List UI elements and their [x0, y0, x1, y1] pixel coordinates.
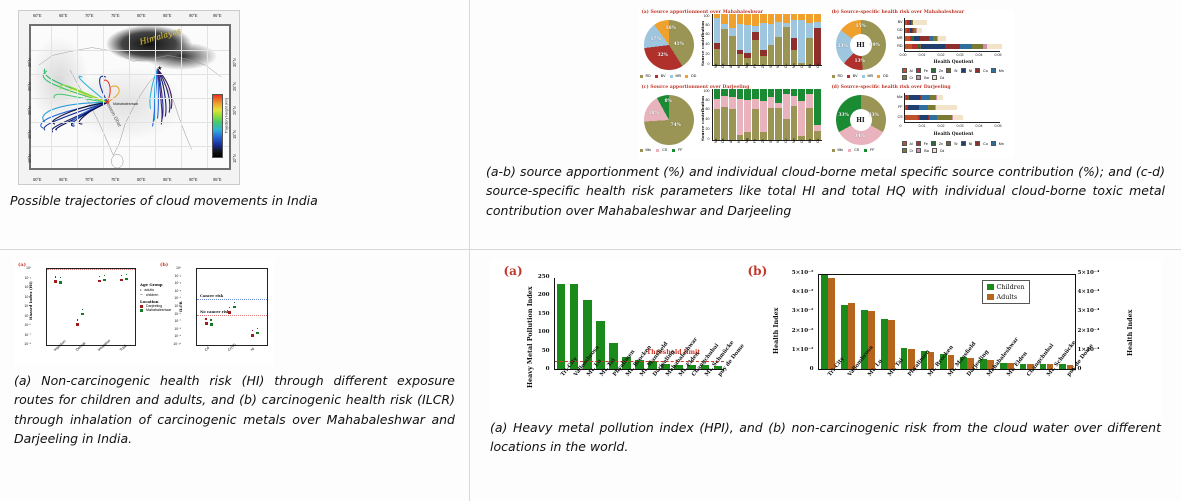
health-index-ytick-right: 5×10⁻⁴ [1078, 270, 1102, 276]
bar-segment [798, 20, 805, 63]
stacked-bar-xlabel: Mn [792, 63, 796, 68]
stacked-bar-xlabel: Fe [753, 64, 757, 68]
map-xtick-bottom: 60°E [33, 177, 41, 182]
stacked-bar-xlabel: Mn [792, 138, 796, 143]
stack-a-yticks: 0 20 40 60 80 100 [704, 18, 710, 66]
hpi-figure: (a) Heavy Metal Pollution Index 25020015… [490, 260, 1162, 420]
panel-d-title: (d) Source-specific health risk over Dar… [832, 85, 951, 90]
scatter-point-whisker [121, 275, 123, 276]
hbar-segment [938, 36, 946, 41]
panel-a-legend: RD BV MR DD [640, 74, 697, 78]
stacked-bar-column [721, 14, 728, 65]
legend-item: Mix [640, 148, 652, 152]
hbar-b-xlabel: Health Quotient [934, 60, 974, 65]
scatter-ytick: 10⁻¹ [175, 274, 182, 278]
stacked-bar-xlabel: Mg [745, 63, 749, 68]
hbar-segment [936, 105, 957, 110]
stacked-bar-column [714, 89, 721, 140]
hbar-segment [960, 44, 971, 49]
health-index-bar [868, 311, 875, 369]
health-index-ytick-right: 4×10⁻⁴ [1078, 289, 1102, 295]
scatter-ytick: 10⁻³ [25, 295, 32, 299]
bar-segment [721, 29, 728, 65]
metal-legend-item: Ba [916, 148, 928, 153]
bar-segment [783, 119, 790, 140]
stacked-bar-column [737, 89, 744, 140]
bar-segment [806, 38, 813, 65]
scatter-point-whisker [257, 328, 259, 329]
bar-segment [729, 14, 736, 28]
scatter-ytick: 10⁰ [176, 266, 182, 270]
map-xtick: 90°E [189, 13, 197, 18]
bar-segment [729, 97, 736, 110]
hbar-segment [917, 28, 923, 33]
bar-segment [814, 22, 821, 29]
stacked-bar-xlabel: Ni [776, 65, 780, 68]
stacked-bar-xlabel: Ca [721, 139, 725, 143]
hbar-xtick: 0.05 [995, 53, 1002, 57]
bar-segment [806, 23, 813, 38]
map-ytick-right: 10°N [232, 154, 237, 163]
stacked-bar-xlabel: Al [729, 65, 733, 68]
map-caption: Possible trajectories of cloud movements… [10, 191, 459, 210]
metal-legend-item: Al [902, 141, 913, 146]
scatter-ytick: 10⁻⁶ [24, 323, 32, 327]
stacked-bar-xlabel: Na [714, 64, 718, 68]
map-ytick: 25°N [27, 82, 32, 91]
hbar-mahabaleshwar: BVDDMRRD [904, 18, 1000, 52]
panel-b-yticks: 10⁰10⁻¹10⁻²10⁻³10⁻⁴10⁻⁵10⁻⁶10⁻⁷10⁻⁸10⁻⁹1… [182, 268, 194, 346]
map-plot-area: Himalayas Western Ghat ★ Mahabaleshwar ★… [29, 24, 231, 170]
bar-segment [760, 14, 767, 23]
stacked-bar-column [729, 14, 736, 65]
map-ytick-right: 20°N [232, 106, 237, 115]
hbar-xtick: 0.02 [938, 124, 945, 128]
scatter-ytick: 10⁻² [25, 285, 32, 289]
hbar-xtick: 0.03 [957, 53, 964, 57]
bar-segment [814, 14, 821, 22]
stacked-bar-column [798, 14, 805, 65]
scatter-point [120, 279, 123, 281]
bar-segment [791, 96, 798, 106]
stacked-bar-column [744, 89, 751, 140]
stacked-bar-xlabel: Fe [753, 139, 757, 143]
legend-item: BV [655, 74, 666, 78]
scatter-ytick: 10⁻⁸ [24, 342, 32, 346]
metal-legend-item: Al [902, 68, 913, 73]
panel-a-yticks: 10⁰10⁻¹10⁻²10⁻³10⁻⁴10⁻⁵10⁻⁶10⁻⁷10⁻⁸ [32, 268, 44, 346]
bar-segment [729, 109, 736, 140]
scatter-point-whisker [126, 274, 128, 275]
hbar-row: RD [905, 44, 1003, 49]
bar-segment [806, 108, 813, 140]
hpi-a-yticks: 250200150100500 [532, 278, 552, 370]
stacked-bar-column [737, 14, 744, 65]
stacked-bar-xlabel: Zn [761, 139, 765, 143]
health-index-bar [888, 320, 895, 369]
bar-segment [783, 27, 790, 65]
bar-segment [721, 14, 728, 24]
bar-segment [737, 24, 744, 50]
hbar-row-label: MR [897, 36, 905, 40]
bar-segment [768, 89, 775, 97]
panel-title-text: Source-specific health risk over Mahabal… [841, 10, 965, 15]
stacked-bar-column [806, 14, 813, 65]
map-xtick-bottom: 80°E [137, 177, 145, 182]
stacked-bar-column [721, 89, 728, 140]
map-ytick-right: 15°N [232, 130, 237, 139]
pie-slice-label: 18% [649, 111, 659, 116]
bar-segment [721, 89, 728, 96]
hbar-segment [921, 95, 931, 100]
bar-segment [737, 89, 744, 99]
panel-letter: (c) [642, 85, 649, 90]
metal-legend-item: Ni [961, 141, 972, 146]
hbar-row-label: DD [897, 28, 904, 32]
scatter-point-whisker [99, 276, 101, 277]
legend-item: CS [848, 148, 859, 152]
stacked-bar-column [814, 89, 821, 140]
map-ytick: 30°N [27, 58, 32, 67]
bar-segment [775, 108, 782, 140]
hbar-xtick: 0.00 [900, 53, 907, 57]
bar-segment [814, 28, 821, 65]
metal-legend-item: Cr [902, 148, 914, 153]
threshold-line [47, 269, 135, 270]
bar-segment [791, 20, 798, 38]
stacked-bar-column [783, 89, 790, 140]
map-ytick: 20°N [27, 106, 32, 115]
stacked-bar-column [714, 14, 721, 65]
scatter-ytick: 10⁻⁸ [174, 327, 182, 331]
health-index-ytick-left: 2×10⁻² [792, 328, 816, 334]
metal-legend-item: Zn [931, 141, 943, 146]
scatter-plot-ilcr: Cancer riskNo cancer risk [196, 268, 268, 346]
map-xtick-bottom: 95°E [213, 177, 221, 182]
scatter-ytick: 10⁻² [175, 281, 182, 285]
hbar-darjeeling: MixFFCS [904, 93, 1000, 123]
bar-segment [752, 89, 759, 99]
metal-legend-item: Mn [991, 68, 1004, 73]
source-apportionment-figure: (a) Source apportionment over Mahabalesh… [638, 10, 1014, 158]
stacked-bar-xlabel: Sr [769, 65, 773, 68]
map-xtick: 70°E [85, 13, 93, 18]
scatter-ytick: 10⁻⁵ [24, 314, 32, 318]
stacked-bar-column [760, 89, 767, 140]
scatter-point-whisker [60, 277, 62, 278]
hbar-row-label: BV [898, 20, 905, 24]
hpi-panel-b-letter: (b) [748, 264, 768, 278]
metal-legend-item: Sr [946, 68, 958, 73]
scatter-point-whisker [104, 275, 106, 276]
health-index-bar [828, 278, 835, 369]
metal-legend-item: Mn [991, 141, 1004, 146]
stacked-bar-column [791, 14, 798, 65]
legend-item: FF [864, 148, 874, 152]
hbar-xtick: 0.01 [919, 53, 926, 57]
hbar-row: DD [905, 28, 923, 33]
bar-segment [752, 14, 759, 26]
scatter-point [76, 323, 79, 325]
bar-segment [729, 89, 736, 97]
hpi-ytick: 50 [542, 348, 552, 354]
hbar-xtick: 0.04 [976, 53, 983, 57]
scatter-point-whisker [252, 330, 254, 331]
stacked-bar-column [791, 89, 798, 140]
stacked-bar-xlabel: Zn [761, 64, 765, 68]
scatter-ytick: 10⁻⁹ [174, 334, 182, 338]
legend-item: RD [832, 74, 843, 78]
hbar-row-label: FF [898, 105, 904, 109]
bar-segment [760, 23, 767, 50]
scatter-point [210, 323, 213, 325]
panel-b-title: (b) Source-specific health risk over Mah… [832, 10, 965, 15]
stacked-bar-xlabel: Ba [808, 64, 812, 68]
hpi-panel-b-ylabel-left: Health Index [772, 308, 780, 354]
bar-segment [752, 99, 759, 109]
hbar-segment [928, 105, 935, 110]
stacked-bar-column [752, 89, 759, 140]
map-xtick: 80°E [137, 13, 145, 18]
bar-segment [737, 135, 744, 140]
stacked-bar-column [768, 14, 775, 65]
panel-b: (b) Source-specific health risk over Mah… [830, 10, 1014, 84]
scatter-xtick: Ni [250, 347, 255, 352]
hbar-d-metal-legend: AlFeZnSrNiCuMnCrBaCd [902, 141, 1014, 153]
hbar-row-label: Mix [897, 95, 905, 99]
bar-segment [729, 36, 736, 65]
scatter-annotation: No cancer risk [200, 310, 229, 314]
stacked-bar-c-xlabels: NaCaAlKMgFeZnSrNiCuMnCrBaCd [712, 142, 822, 158]
scatter-ytick: 10⁻⁶ [174, 312, 182, 316]
map-ytick: 10°N [27, 154, 32, 163]
stacked-bar-xlabel: Al [729, 140, 733, 143]
scatter-point [251, 334, 254, 336]
bar-segment [798, 89, 805, 101]
hbar-segment [945, 44, 960, 49]
bar-segment [775, 37, 782, 65]
stack-c-yticks: 0 20 40 60 80 100 [704, 93, 710, 141]
metal-legend-item: Cu [975, 141, 988, 146]
scatter-ytick: 10⁻¹⁰ [173, 342, 182, 346]
scatter-point [103, 279, 106, 281]
trajectory-height-colorbar [212, 94, 223, 158]
hbar-xtick: 0.05 [995, 124, 1002, 128]
threshold-line [197, 299, 267, 300]
metal-legend-item: Cd [932, 148, 945, 153]
bar-segment [721, 96, 728, 107]
health-risk-caption: (a) Non-carcinogenic health risk (HI) th… [10, 371, 459, 449]
stacked-bar-mahabaleshwar [712, 14, 822, 66]
hbar-segment [937, 115, 952, 120]
bar-segment [768, 108, 775, 140]
bar-segment [714, 89, 721, 99]
hbar-segment [920, 115, 928, 120]
panel-d: (d) Source-specific health risk over Dar… [830, 85, 1014, 158]
scatter-ytick: 10⁻⁷ [25, 333, 32, 337]
pie-slice-label: 34% [855, 134, 865, 139]
health-risk-figure: (a) Hazard Index (HI) 10⁰10⁻¹10⁻²10⁻³10⁻… [14, 260, 274, 365]
pie-slice-label: 74% [671, 123, 681, 128]
hpi-b-legend: ChildrenAdults [982, 280, 1030, 304]
scatter-ytick: 10⁻⁷ [175, 319, 182, 323]
stacked-bar-column [729, 89, 736, 140]
hbar-segment [921, 44, 946, 49]
map-xtick: 65°E [59, 13, 67, 18]
hbar-segment [909, 95, 920, 100]
scatter-point [98, 280, 101, 282]
donut-chart-darjeeling-hi: HI 33% 34% 33% [836, 95, 886, 145]
hbar-row-label: RD [897, 44, 904, 48]
hbar-d-xticks: 00.010.020.030.040.05 [904, 124, 1000, 132]
legend-item: Adults [987, 293, 1025, 301]
hbar-d-xlabel: Health Quotient [934, 132, 974, 137]
stacked-bar-column [783, 14, 790, 65]
stacked-bar-xlabel: Cr [800, 64, 804, 68]
hpi-caption: (a) Heavy metal pollution index (HPI), a… [480, 418, 1171, 457]
map-xtick-bottom: 85°E [163, 177, 171, 182]
cell-map: Himalayas Western Ghat ★ Mahabaleshwar ★… [0, 0, 470, 250]
hpi-b-yticks-left: 5×10⁻²4×10⁻²3×10⁻²2×10⁻²1×10⁻²0 [780, 274, 816, 370]
map-xtick: 75°E [111, 13, 119, 18]
bar-segment [752, 32, 759, 40]
site-marker-darjeeling: ★ [157, 66, 162, 72]
cell-health-risk: (a) Hazard Index (HI) 10⁰10⁻¹10⁻²10⁻³10⁻… [0, 250, 470, 501]
scatter-point [233, 306, 236, 308]
hbar-row: BV [905, 20, 927, 25]
scatter-ytick: 10⁻⁴ [24, 304, 32, 308]
bar-segment [744, 25, 751, 53]
bar-segment [806, 94, 813, 108]
pie-slice-label: 33% [839, 113, 849, 118]
map-xtick-bottom: 65°E [59, 177, 67, 182]
scatter-ytick: 10⁻¹ [25, 276, 32, 280]
bar-segment [814, 89, 821, 125]
legend-item: FF [672, 148, 682, 152]
metal-legend-item: Ni [961, 68, 972, 73]
figure-sheet: Himalayas Western Ghat ★ Mahabaleshwar ★… [0, 0, 1181, 501]
hpi-b-xlabels: Tri-CityVallombrosaMt. LuMt. TaiPhyalime… [818, 372, 1076, 420]
panel-c-legend: Mix CS FF [640, 148, 683, 152]
metal-legend-item: Fe [916, 68, 928, 73]
hbar-xtick: 0 [900, 124, 902, 128]
pie-slice-label: 41% [674, 42, 684, 47]
stacked-bar-xlabel: K [737, 66, 741, 68]
cell-hpi: (a) Heavy Metal Pollution Index 25020015… [470, 250, 1181, 501]
health-index-ytick-right: 3×10⁻⁴ [1078, 308, 1102, 314]
panel-letter: (d) [832, 85, 840, 90]
hbar-row: CS [905, 115, 963, 120]
colorbar-axis-label: Trajectory Height (km) [224, 98, 228, 133]
health-index-bar [848, 303, 855, 369]
hbar-row: FF [905, 105, 957, 110]
stacked-bar-xlabel: Mg [745, 138, 749, 143]
scatter-point [125, 278, 128, 280]
hbar-xtick: 0.04 [976, 124, 983, 128]
bar-segment [752, 40, 759, 66]
metal-legend-item: Cu [975, 68, 988, 73]
stacked-bar-xlabel: Ca [721, 64, 725, 68]
hpi-panel-a-letter: (a) [504, 264, 523, 278]
bar-segment [783, 14, 790, 23]
legend-item: DD [685, 74, 696, 78]
health-index-ytick-left: 3×10⁻² [792, 308, 816, 314]
stacked-bar-xlabel: Cu [784, 139, 788, 143]
scatter-point-whisker [234, 302, 236, 303]
hbar-b-metal-legend: AlFeZnSrNiCuMnCrBaCd [902, 68, 1014, 80]
legend-item: BV [847, 74, 858, 78]
bar-segment [744, 100, 751, 132]
bar-segment [806, 14, 813, 23]
map-ytick-right: 30°N [232, 58, 237, 67]
scatter-annotation: Cancer risk [200, 294, 223, 298]
map-xtick-bottom: 75°E [111, 177, 119, 182]
hbar-segment [913, 20, 926, 25]
stacked-bar-column [752, 14, 759, 65]
scatter-plot-hazard-index [46, 268, 136, 346]
hpi-ytick: 0 [546, 366, 552, 372]
bar-segment [798, 101, 805, 136]
bar-segment [714, 18, 721, 43]
scatter-point-whisker [55, 276, 57, 277]
panel-a-xlabels: IngestionDermalInhalationTotal [46, 347, 136, 365]
bar-segment [721, 107, 728, 140]
scatter-ytick: 10⁻⁵ [174, 304, 182, 308]
pie-slice-label: 33% [869, 113, 879, 118]
stacked-bar-xlabel: Sr [769, 140, 773, 143]
map-xtick-bottom: 90°E [189, 177, 197, 182]
panel-a: (a) Source apportionment over Mahabalesh… [638, 10, 828, 84]
scatter-point-whisker [77, 319, 79, 320]
panel-b-legend: RD BV MR DD [832, 74, 889, 78]
stacked-bar-a-xlabels: NaCaAlKMgFeZnSrNiCuMnCrBaCd [712, 67, 822, 83]
health-index-ytick-right: 2×10⁻⁴ [1078, 328, 1102, 334]
bar-segment [768, 97, 775, 108]
legend-item: MR [670, 74, 682, 78]
metal-legend-item: Fe [916, 141, 928, 146]
hbar-segment [908, 105, 918, 110]
health-index-ytick-left: 5×10⁻² [792, 270, 816, 276]
bar-segment [714, 49, 721, 65]
health-index-ytick-left: 0 [810, 366, 816, 372]
bar-segment [775, 22, 782, 37]
pie-slice-label: 23% [838, 44, 848, 49]
panel-letter: (a) [642, 10, 649, 15]
map-xtick: 85°E [163, 13, 171, 18]
panel-b-xlabels: CdCr(VI)Ni [196, 347, 268, 365]
panel-letter: (b) [832, 10, 840, 15]
map-xtick: 95°E [213, 13, 221, 18]
hpi-ytick: 250 [538, 274, 552, 280]
panel-a-letter: (a) [18, 262, 26, 268]
pie-slice-label: 17% [651, 37, 661, 42]
hbar-segment [987, 44, 1002, 49]
bar-segment [791, 89, 798, 96]
map-xtick-bottom: 70°E [85, 177, 93, 182]
legend-item: Children [987, 283, 1025, 291]
hpi-a-xlabels: Tri-CityVallombrosaMt. LuMt. TaiPhyalime… [554, 372, 724, 420]
stacked-bar-xlabel: Na [714, 139, 718, 143]
stacked-bar-column [744, 14, 751, 65]
scatter-point-whisker [229, 307, 231, 308]
bar-segment [737, 14, 744, 24]
map-ytick-right: 25°N [232, 82, 237, 91]
donut-chart-mahabaleshwar-hi: HI 49% 13% 23% 15% [836, 20, 886, 70]
metal-legend-item: Ba [916, 75, 928, 80]
scatter-xtick: Cd [204, 346, 210, 352]
health-index-ytick-left: 4×10⁻² [792, 289, 816, 295]
hpi-bar [557, 284, 566, 369]
